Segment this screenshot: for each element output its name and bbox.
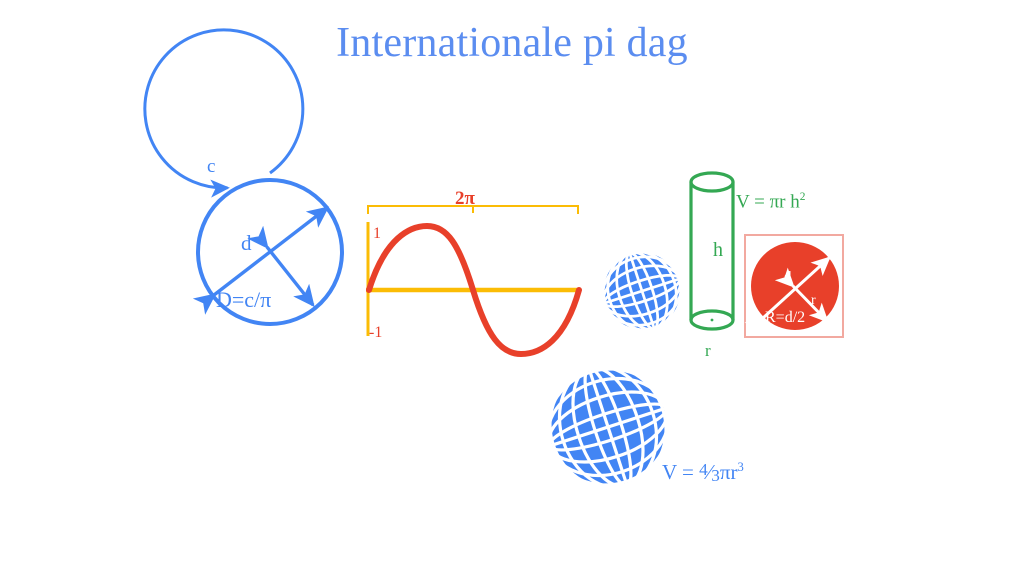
- sphere-formula-suffix: πr: [720, 460, 738, 484]
- large-globe-svg: [541, 360, 675, 494]
- cylinder-height-label: h: [713, 240, 723, 260]
- large-wireframe-sphere: [541, 360, 675, 494]
- cylinder-svg: [688, 168, 736, 340]
- sphere-formula-numerator: 4: [699, 460, 708, 479]
- cylinder-center-dot: [711, 319, 714, 322]
- cylinder-radius-label: r: [705, 342, 711, 359]
- sphere-volume-formula: V = 4⁄3πr3: [662, 461, 744, 483]
- y-max-label: 1: [373, 226, 381, 242]
- period-label: 2π: [455, 189, 475, 208]
- cylinder-top-ellipse: [691, 173, 733, 191]
- disc-radius-label: r: [811, 294, 816, 308]
- diameter-formula-label: D=c/π: [216, 289, 271, 311]
- sine-wave-diagram: [365, 200, 590, 345]
- radius-arrow: [267, 247, 313, 305]
- cylinder-diagram: [688, 168, 736, 340]
- sphere-formula-prefix: V =: [662, 460, 699, 484]
- sine-wave-svg: [365, 200, 590, 345]
- sphere-formula-exponent: 3: [737, 460, 743, 474]
- cylinder-volume-formula: V = πr h2: [736, 192, 805, 211]
- small-wireframe-sphere: [599, 248, 685, 334]
- circumference-label: c: [207, 157, 215, 176]
- cylinder-formula-exponent: 2: [800, 191, 806, 203]
- diameter-label: d: [241, 233, 252, 254]
- circle-diagram: [175, 155, 365, 345]
- slide-canvas: Internationale pi dag c d D=c/π: [0, 0, 1024, 576]
- sphere-formula-denominator: 3: [711, 466, 720, 485]
- disc-diameter-label: d: [784, 270, 792, 285]
- circle-diagram-svg: [175, 155, 365, 345]
- cylinder-formula-text: V = πr h: [736, 191, 800, 212]
- disc-radius-formula: R=d/2: [765, 310, 805, 326]
- page-title: Internationale pi dag: [0, 22, 1024, 64]
- small-globe-svg: [599, 248, 685, 334]
- y-min-label: -1: [369, 325, 382, 341]
